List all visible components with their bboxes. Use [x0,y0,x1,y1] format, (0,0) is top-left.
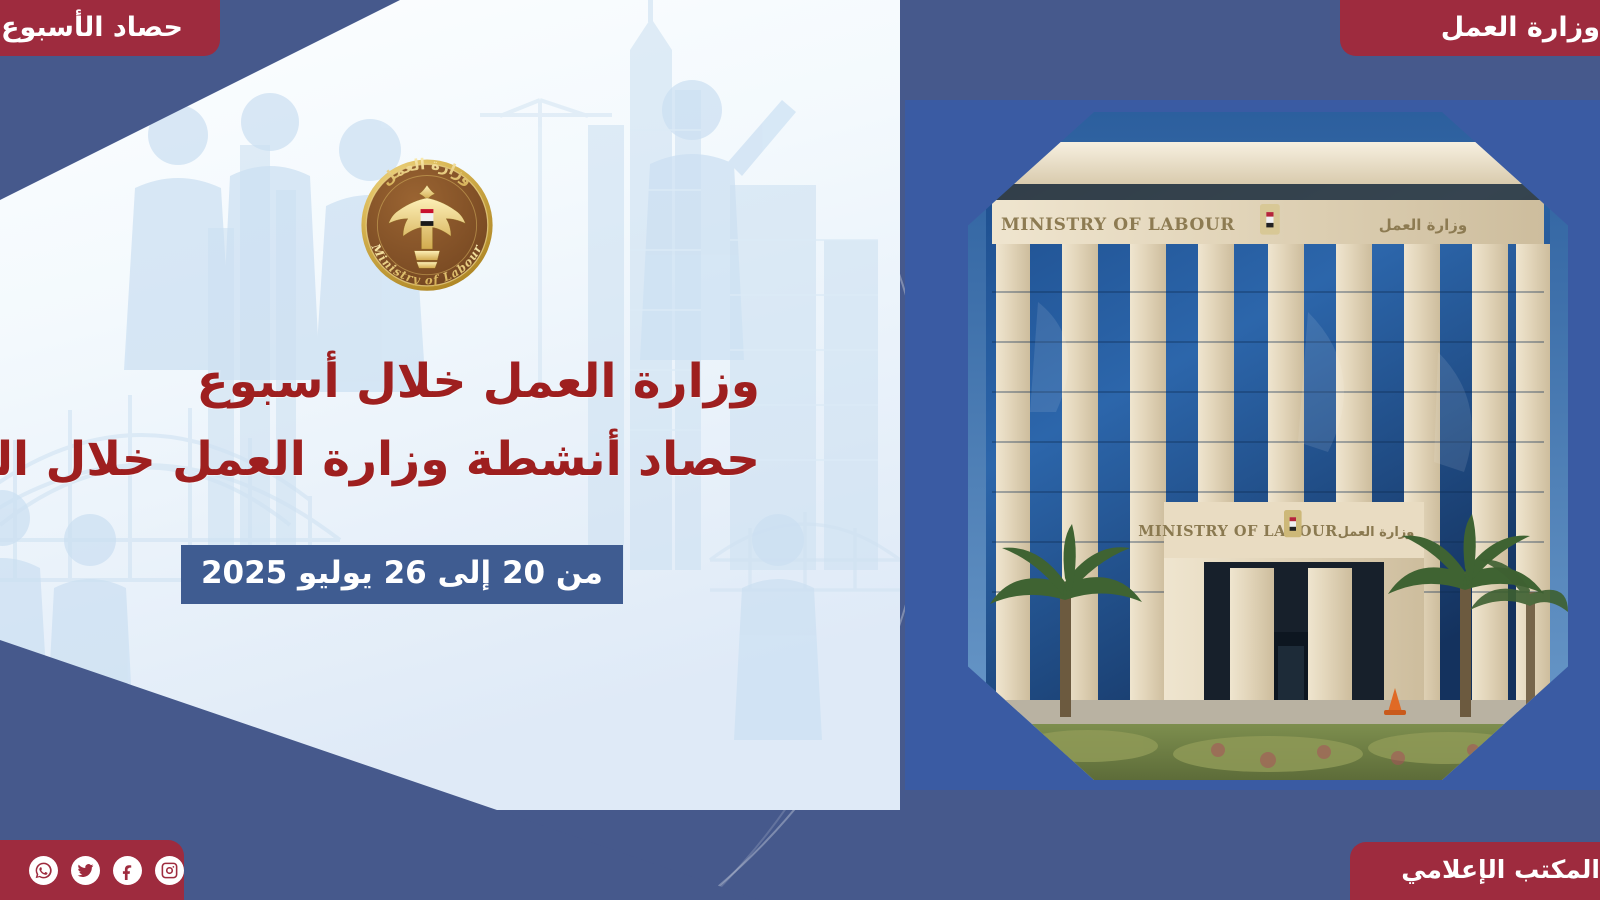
badge-ministry-name: وزارة العمل [1340,0,1600,56]
twitter-icon[interactable] [71,856,100,885]
poster-canvas: وزارة العمل Ministry of Labour وزارة الع… [0,0,1600,900]
headline-line-1: وزارة العمل خلال أسبوع [197,356,760,409]
badge-weekly-harvest: حصاد الأسبوع [0,0,220,56]
badge-ministry-name-label: وزارة العمل [1441,12,1600,43]
whatsapp-icon[interactable] [29,856,58,885]
ministry-seal-logo: وزارة العمل Ministry of Labour [347,143,507,308]
instagram-icon[interactable] [155,856,184,885]
date-range-badge: من 20 إلى 26 يوليو 2025 [181,545,623,604]
facebook-icon[interactable] [113,856,142,885]
badge-weekly-harvest-label: حصاد الأسبوع [1,12,183,43]
building-sign-english-top: MINISTRY OF LABOUR [1001,215,1235,235]
headline-line-2: حصاد أنشطة وزارة العمل خلال الفترة [0,434,760,487]
social-links-bar [0,840,184,900]
badge-media-office-label: المكتب الإعلامي [1401,855,1600,884]
building-sign-arabic-bottom: وزارة العمل [1338,525,1415,540]
ministry-building-photo: MINISTRY OF LABOUR وزارة العمل [968,112,1568,780]
building-sign-english-bottom: MINISTRY OF LABOUR [1138,523,1338,540]
building-sign-arabic-top: وزارة العمل [1379,216,1468,234]
badge-media-office: المكتب الإعلامي [1350,842,1600,900]
